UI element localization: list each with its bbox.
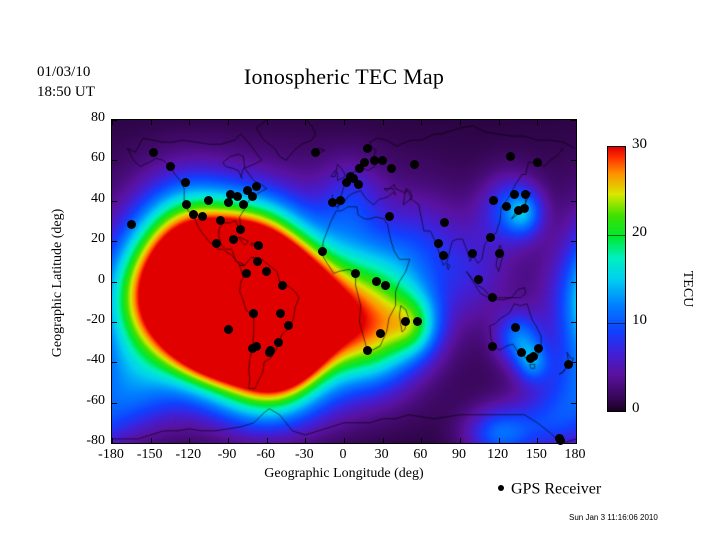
gps-receiver-dot <box>198 212 207 221</box>
gps-receiver-dot <box>242 269 251 278</box>
gps-receiver-dot <box>216 216 225 225</box>
figure-title: Ionospheric TEC Map <box>111 64 577 90</box>
colorbar-tick-label: 30 <box>632 136 647 153</box>
gps-receiver-dot <box>262 267 271 276</box>
tec-map-figure: 01/03/10 18:50 UT Ionospheric TEC Map Ge… <box>0 0 720 540</box>
x-axis-tick-top <box>421 120 422 125</box>
x-axis-tick <box>537 438 538 443</box>
gps-receiver-dot <box>410 160 419 169</box>
x-axis-tick <box>228 438 229 443</box>
y-axis-tick-right <box>571 282 576 283</box>
gps-receiver-dot <box>149 148 158 157</box>
gps-receiver-dot <box>376 329 385 338</box>
gps-receiver-dot <box>354 180 363 189</box>
y-axis-tick-label: 0 <box>59 272 105 288</box>
x-axis-tick <box>305 438 306 443</box>
y-axis-tick-label: -40 <box>59 352 105 368</box>
y-axis-tick-label: 40 <box>59 191 105 207</box>
gps-receiver-dot <box>249 309 258 318</box>
gps-receiver-dot <box>243 186 252 195</box>
y-axis-tick <box>112 160 117 161</box>
colorbar-tick-label: 20 <box>632 224 647 241</box>
gps-receiver-dot <box>564 360 573 369</box>
gps-receiver-dot <box>248 344 257 353</box>
gps-receiver-dot <box>276 309 285 318</box>
gps-receiver-dot <box>363 144 372 153</box>
x-axis-tick-top <box>151 120 152 125</box>
gps-receiver-dot <box>495 249 504 258</box>
legend-label: GPS Receiver <box>511 480 601 497</box>
gps-receiver-dot <box>510 190 519 199</box>
gps-receiver-dot <box>363 346 372 355</box>
y-axis-tick-right <box>571 362 576 363</box>
gps-receiver-dot <box>413 317 422 326</box>
x-axis-tick-top <box>189 120 190 125</box>
gps-receiver-dot <box>387 164 396 173</box>
x-axis-tick-top <box>537 120 538 125</box>
x-axis-tick <box>383 438 384 443</box>
gps-receiver-dot <box>189 210 198 219</box>
gps-receiver-dot <box>517 348 526 357</box>
x-axis-tick <box>421 438 422 443</box>
y-axis-tick <box>112 362 117 363</box>
gps-receiver-dot <box>274 338 283 347</box>
gps-receiver-dot <box>236 225 245 234</box>
gps-receiver-dot <box>506 152 515 161</box>
x-axis-tick-top <box>344 120 345 125</box>
render-timestamp: Sun Jan 3 11:16:06 2010 <box>569 513 658 522</box>
x-axis-tick-top <box>576 120 577 125</box>
x-axis-tick-label: 180 <box>545 447 605 463</box>
gps-receiver-dot <box>351 269 360 278</box>
y-axis-tick-right <box>571 120 576 121</box>
y-axis-tick-label: -60 <box>59 393 105 409</box>
y-axis-tick <box>112 282 117 283</box>
gps-receiver-dot <box>486 233 495 242</box>
gps-receiver-dot <box>182 200 191 209</box>
y-axis-tick <box>112 120 117 121</box>
y-axis-tick <box>112 322 117 323</box>
x-axis-tick-top <box>228 120 229 125</box>
y-axis-tick-label: -20 <box>59 312 105 328</box>
gps-receiver-dot <box>166 162 175 171</box>
gps-receiver-dot <box>360 158 369 167</box>
x-axis-tick-top <box>383 120 384 125</box>
y-axis-tick-label: 20 <box>59 231 105 247</box>
gps-receiver-dot <box>468 249 477 258</box>
gps-receiver-dot <box>224 325 233 334</box>
legend-gps-receiver: GPS Receiver <box>498 480 601 498</box>
x-axis-tick <box>189 438 190 443</box>
colorbar-tick-label: 10 <box>632 312 647 329</box>
colorbar-tick <box>608 323 625 324</box>
colorbar-title: TECU <box>679 199 695 379</box>
y-axis-tick <box>112 443 117 444</box>
gps-receiver-marker-icon <box>498 485 504 491</box>
gps-receiver-dot <box>224 198 233 207</box>
observation-date: 01/03/10 <box>37 62 95 82</box>
gps-receiver-dot <box>284 321 293 330</box>
x-axis-tick-top <box>499 120 500 125</box>
x-axis-tick <box>576 438 577 443</box>
gps-receiver-dot <box>278 281 287 290</box>
gps-receiver-dot <box>439 251 448 260</box>
gps-receiver-dot <box>239 200 248 209</box>
gps-receiver-dot <box>181 178 190 187</box>
observation-time: 18:50 UT <box>37 82 95 102</box>
y-axis-tick-right <box>571 241 576 242</box>
gps-receiver-dot <box>265 348 274 357</box>
x-axis-tick <box>151 438 152 443</box>
gps-receiver-dot <box>253 257 262 266</box>
gps-receiver-dot <box>252 182 261 191</box>
gps-receiver-dot <box>474 275 483 284</box>
gps-receiver-dot <box>488 293 497 302</box>
colorbar-gradient <box>608 147 625 411</box>
y-axis-tick-right <box>571 443 576 444</box>
gps-receiver-dot <box>521 190 530 199</box>
observation-datestamp: 01/03/10 18:50 UT <box>37 62 95 102</box>
gps-receiver-dot <box>336 196 345 205</box>
y-axis-tick-right <box>571 160 576 161</box>
gps-receiver-dot <box>378 156 387 165</box>
y-axis-tick-right <box>571 403 576 404</box>
x-axis-tick-top <box>305 120 306 125</box>
y-axis-tick-label: 80 <box>59 110 105 126</box>
gps-receiver-dot <box>529 352 538 361</box>
gps-receiver-dot <box>385 212 394 221</box>
colorbar <box>607 146 626 412</box>
gps-receiver-dot <box>212 239 221 248</box>
gps-receiver-dot <box>434 239 443 248</box>
gps-receiver-dot <box>372 277 381 286</box>
colorbar-tick-label: 0 <box>632 400 640 417</box>
gps-receiver-dot <box>311 148 320 157</box>
tec-map-plot-area <box>111 119 577 444</box>
gps-receiver-dot <box>520 204 529 213</box>
x-axis-tick-top <box>267 120 268 125</box>
x-axis-tick <box>344 438 345 443</box>
y-axis-tick-right <box>571 322 576 323</box>
gps-receiver-dot <box>440 218 449 227</box>
gps-receiver-dot <box>229 235 238 244</box>
y-axis-tick <box>112 241 117 242</box>
x-axis-tick-top <box>460 120 461 125</box>
gps-receiver-dot <box>318 247 327 256</box>
x-axis-tick <box>499 438 500 443</box>
gps-receiver-layer <box>112 120 576 443</box>
gps-receiver-dot <box>401 317 410 326</box>
x-axis-tick <box>460 438 461 443</box>
y-axis-tick-label: -80 <box>59 433 105 449</box>
gps-receiver-dot <box>254 241 263 250</box>
x-axis-tick <box>267 438 268 443</box>
gps-receiver-dot <box>489 196 498 205</box>
gps-receiver-dot <box>511 323 520 332</box>
y-axis-tick <box>112 403 117 404</box>
gps-receiver-dot <box>488 342 497 351</box>
gps-receiver-dot <box>533 158 542 167</box>
gps-receiver-dot <box>381 281 390 290</box>
gps-receiver-dot <box>502 202 511 211</box>
gps-receiver-dot <box>534 344 543 353</box>
colorbar-tick <box>608 235 625 236</box>
y-axis-tick-label: 60 <box>59 150 105 166</box>
y-axis-tick-right <box>571 201 576 202</box>
gps-receiver-dot <box>127 220 136 229</box>
gps-receiver-dot <box>204 196 213 205</box>
y-axis-tick <box>112 201 117 202</box>
